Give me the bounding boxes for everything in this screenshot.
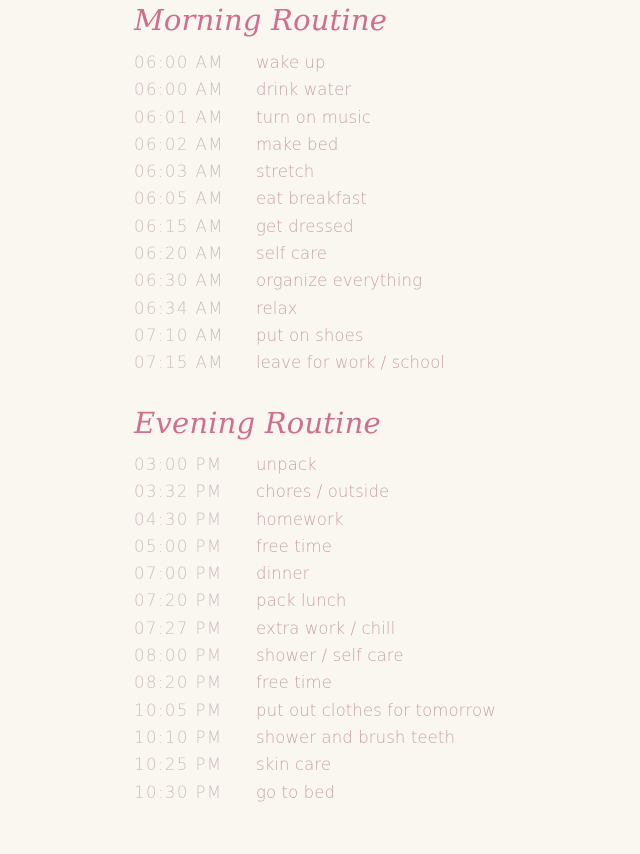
routine-time: 07:00 PM: [134, 564, 256, 583]
routine-activity: free time: [256, 537, 640, 556]
routine-time: 06:20 AM: [134, 244, 256, 263]
routine-activity: organize everything: [256, 271, 640, 290]
routine-row: 10:25 PMskin care: [0, 755, 640, 782]
routine-activity: homework: [256, 510, 640, 529]
routine-time: 06:05 AM: [134, 189, 256, 208]
routine-activity: shower and brush teeth: [256, 728, 640, 747]
routine-row: 03:00 PMunpack: [0, 455, 640, 482]
routine-row: 07:00 PMdinner: [0, 564, 640, 591]
routine-row: 06:00 AMwake up: [0, 53, 640, 80]
routine-row: 06:01 AMturn on music: [0, 108, 640, 135]
routine-schedule-page: Morning Routine 06:00 AMwake up06:00 AMd…: [0, 0, 640, 854]
routine-activity: turn on music: [256, 108, 640, 127]
routine-activity: wake up: [256, 53, 640, 72]
routine-time: 08:20 PM: [134, 673, 256, 692]
routine-row: 07:15 AMleave for work / school: [0, 353, 640, 380]
routine-row: 03:32 PMchores / outside: [0, 482, 640, 509]
routine-row: 06:20 AMself care: [0, 244, 640, 271]
routine-row: 06:05 AMeat breakfast: [0, 189, 640, 216]
routine-row: 06:15 AMget dressed: [0, 217, 640, 244]
routine-activity: make bed: [256, 135, 640, 154]
routine-activity: chores / outside: [256, 482, 640, 501]
morning-routine-list: 06:00 AMwake up06:00 AMdrink water06:01 …: [0, 53, 640, 381]
routine-row: 07:27 PMextra work / chill: [0, 619, 640, 646]
routine-activity: eat breakfast: [256, 189, 640, 208]
routine-activity: get dressed: [256, 217, 640, 236]
routine-activity: relax: [256, 299, 640, 318]
routine-row: 06:00 AMdrink water: [0, 80, 640, 107]
routine-row: 10:10 PMshower and brush teeth: [0, 728, 640, 755]
routine-activity: free time: [256, 673, 640, 692]
routine-activity: dinner: [256, 564, 640, 583]
routine-time: 07:27 PM: [134, 619, 256, 638]
routine-time: 07:10 AM: [134, 326, 256, 345]
routine-row: 08:20 PMfree time: [0, 673, 640, 700]
evening-routine-title: Evening Routine: [0, 403, 640, 443]
routine-activity: skin care: [256, 755, 640, 774]
routine-row: 10:05 PMput out clothes for tomorrow: [0, 701, 640, 728]
routine-time: 07:20 PM: [134, 591, 256, 610]
routine-time: 10:05 PM: [134, 701, 256, 720]
routine-activity: leave for work / school: [256, 353, 640, 372]
routine-time: 03:00 PM: [134, 455, 256, 474]
routine-activity: extra work / chill: [256, 619, 640, 638]
routine-row: 06:30 AMorganize everything: [0, 271, 640, 298]
routine-activity: drink water: [256, 80, 640, 99]
routine-time: 10:25 PM: [134, 755, 256, 774]
routine-row: 10:30 PMgo to bed: [0, 783, 640, 810]
routine-row: 04:30 PMhomework: [0, 510, 640, 537]
routine-activity: self care: [256, 244, 640, 263]
evening-routine-section: Evening Routine 03:00 PMunpack03:32 PMch…: [0, 403, 640, 810]
routine-activity: go to bed: [256, 783, 640, 802]
routine-time: 06:34 AM: [134, 299, 256, 318]
routine-activity: unpack: [256, 455, 640, 474]
morning-routine-title: Morning Routine: [0, 0, 640, 40]
routine-time: 10:10 PM: [134, 728, 256, 747]
routine-activity: put on shoes: [256, 326, 640, 345]
routine-row: 07:10 AMput on shoes: [0, 326, 640, 353]
routine-time: 06:03 AM: [134, 162, 256, 181]
routine-time: 06:30 AM: [134, 271, 256, 290]
routine-time: 05:00 PM: [134, 537, 256, 556]
routine-row: 06:34 AMrelax: [0, 299, 640, 326]
morning-routine-section: Morning Routine 06:00 AMwake up06:00 AMd…: [0, 0, 640, 381]
routine-row: 05:00 PMfree time: [0, 537, 640, 564]
routine-time: 06:02 AM: [134, 135, 256, 154]
routine-row: 08:00 PMshower / self care: [0, 646, 640, 673]
routine-time: 03:32 PM: [134, 482, 256, 501]
routine-time: 07:15 AM: [134, 353, 256, 372]
routine-time: 06:00 AM: [134, 53, 256, 72]
routine-time: 10:30 PM: [134, 783, 256, 802]
routine-activity: shower / self care: [256, 646, 640, 665]
routine-time: 06:15 AM: [134, 217, 256, 236]
routine-time: 06:00 AM: [134, 80, 256, 99]
routine-time: 04:30 PM: [134, 510, 256, 529]
routine-row: 07:20 PMpack lunch: [0, 591, 640, 618]
routine-row: 06:03 AMstretch: [0, 162, 640, 189]
routine-activity: stretch: [256, 162, 640, 181]
routine-activity: put out clothes for tomorrow: [256, 701, 640, 720]
evening-routine-list: 03:00 PMunpack03:32 PMchores / outside04…: [0, 455, 640, 810]
routine-time: 06:01 AM: [134, 108, 256, 127]
routine-activity: pack lunch: [256, 591, 640, 610]
routine-time: 08:00 PM: [134, 646, 256, 665]
routine-row: 06:02 AMmake bed: [0, 135, 640, 162]
